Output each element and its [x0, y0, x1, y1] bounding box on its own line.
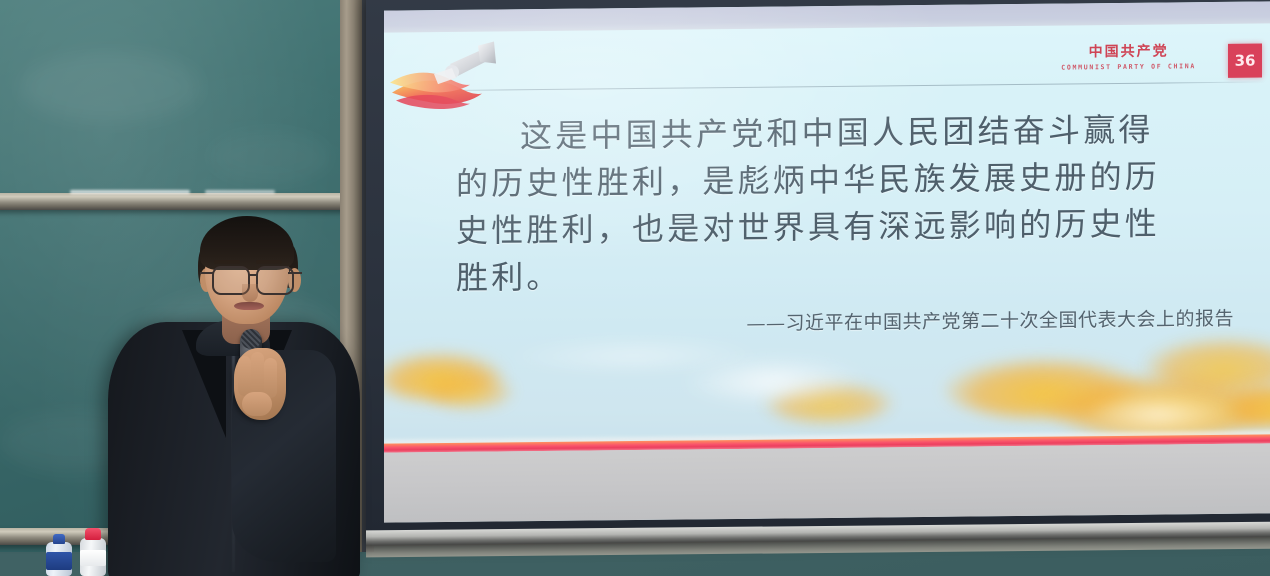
red-ribbon-trumpet-icon: [390, 37, 510, 112]
brand-name-chinese: 中国共产党: [1061, 44, 1196, 59]
golden-clouds-ornament: [384, 325, 1270, 444]
eyeglasses-bridge: [248, 274, 258, 276]
slide-header: 中国共产党 COMMUNIST PARTY OF CHINA 36: [384, 23, 1270, 94]
bottle-label: [80, 550, 106, 566]
party-brand-mark: 中国共产党 COMMUNIST PARTY OF CHINA: [1061, 44, 1196, 71]
slide-body-text: 这是中国共产党和中国人民团结奋斗赢得 的历史性胜利，是彪炳中华民族发展史册的历 …: [456, 106, 1246, 339]
water-bottle-red: [80, 528, 106, 576]
nose: [242, 284, 258, 302]
slide-page-number-badge: 36: [1228, 43, 1262, 77]
bottle-cap: [53, 534, 65, 544]
slide-body-line: 胜利。: [456, 247, 1246, 302]
slide-body-line: 史性胜利，也是对世界具有深远影响的历史性: [456, 200, 1246, 255]
brand-name-english: COMMUNIST PARTY OF CHINA: [1061, 63, 1196, 71]
slide-body-line: 这是中国共产党和中国人民团结奋斗赢得: [456, 106, 1246, 161]
chalk-tray-upper: [0, 193, 368, 210]
slide-attribution: ——习近平在中国共产党第二十次全国代表大会上的报告: [456, 304, 1246, 339]
classroom-photo-scene: 中国共产党 COMMUNIST PARTY OF CHINA 36 这是中国共产…: [0, 0, 1270, 576]
eyebrow-right: [256, 260, 282, 264]
eyebrow-left: [214, 260, 240, 264]
slide-body-line: 的历史性胜利，是彪炳中华民族发展史册的历: [456, 153, 1246, 208]
eyeglasses-temple-right: [288, 272, 302, 274]
mouth: [234, 302, 264, 310]
eyeglasses-temple-left: [200, 272, 214, 274]
water-bottle-blue: [46, 534, 72, 576]
presentation-slide[interactable]: 中国共产党 COMMUNIST PARTY OF CHINA 36 这是中国共产…: [384, 1, 1270, 522]
microphone-grille-icon: [241, 329, 261, 349]
bottle-cap: [85, 528, 101, 540]
slide-footer-band: [384, 443, 1270, 522]
bottle-label: [46, 552, 72, 570]
header-divider-rule: [402, 81, 1266, 91]
eyeglasses-lens-right: [256, 266, 294, 295]
presenter-hand: [234, 348, 286, 420]
